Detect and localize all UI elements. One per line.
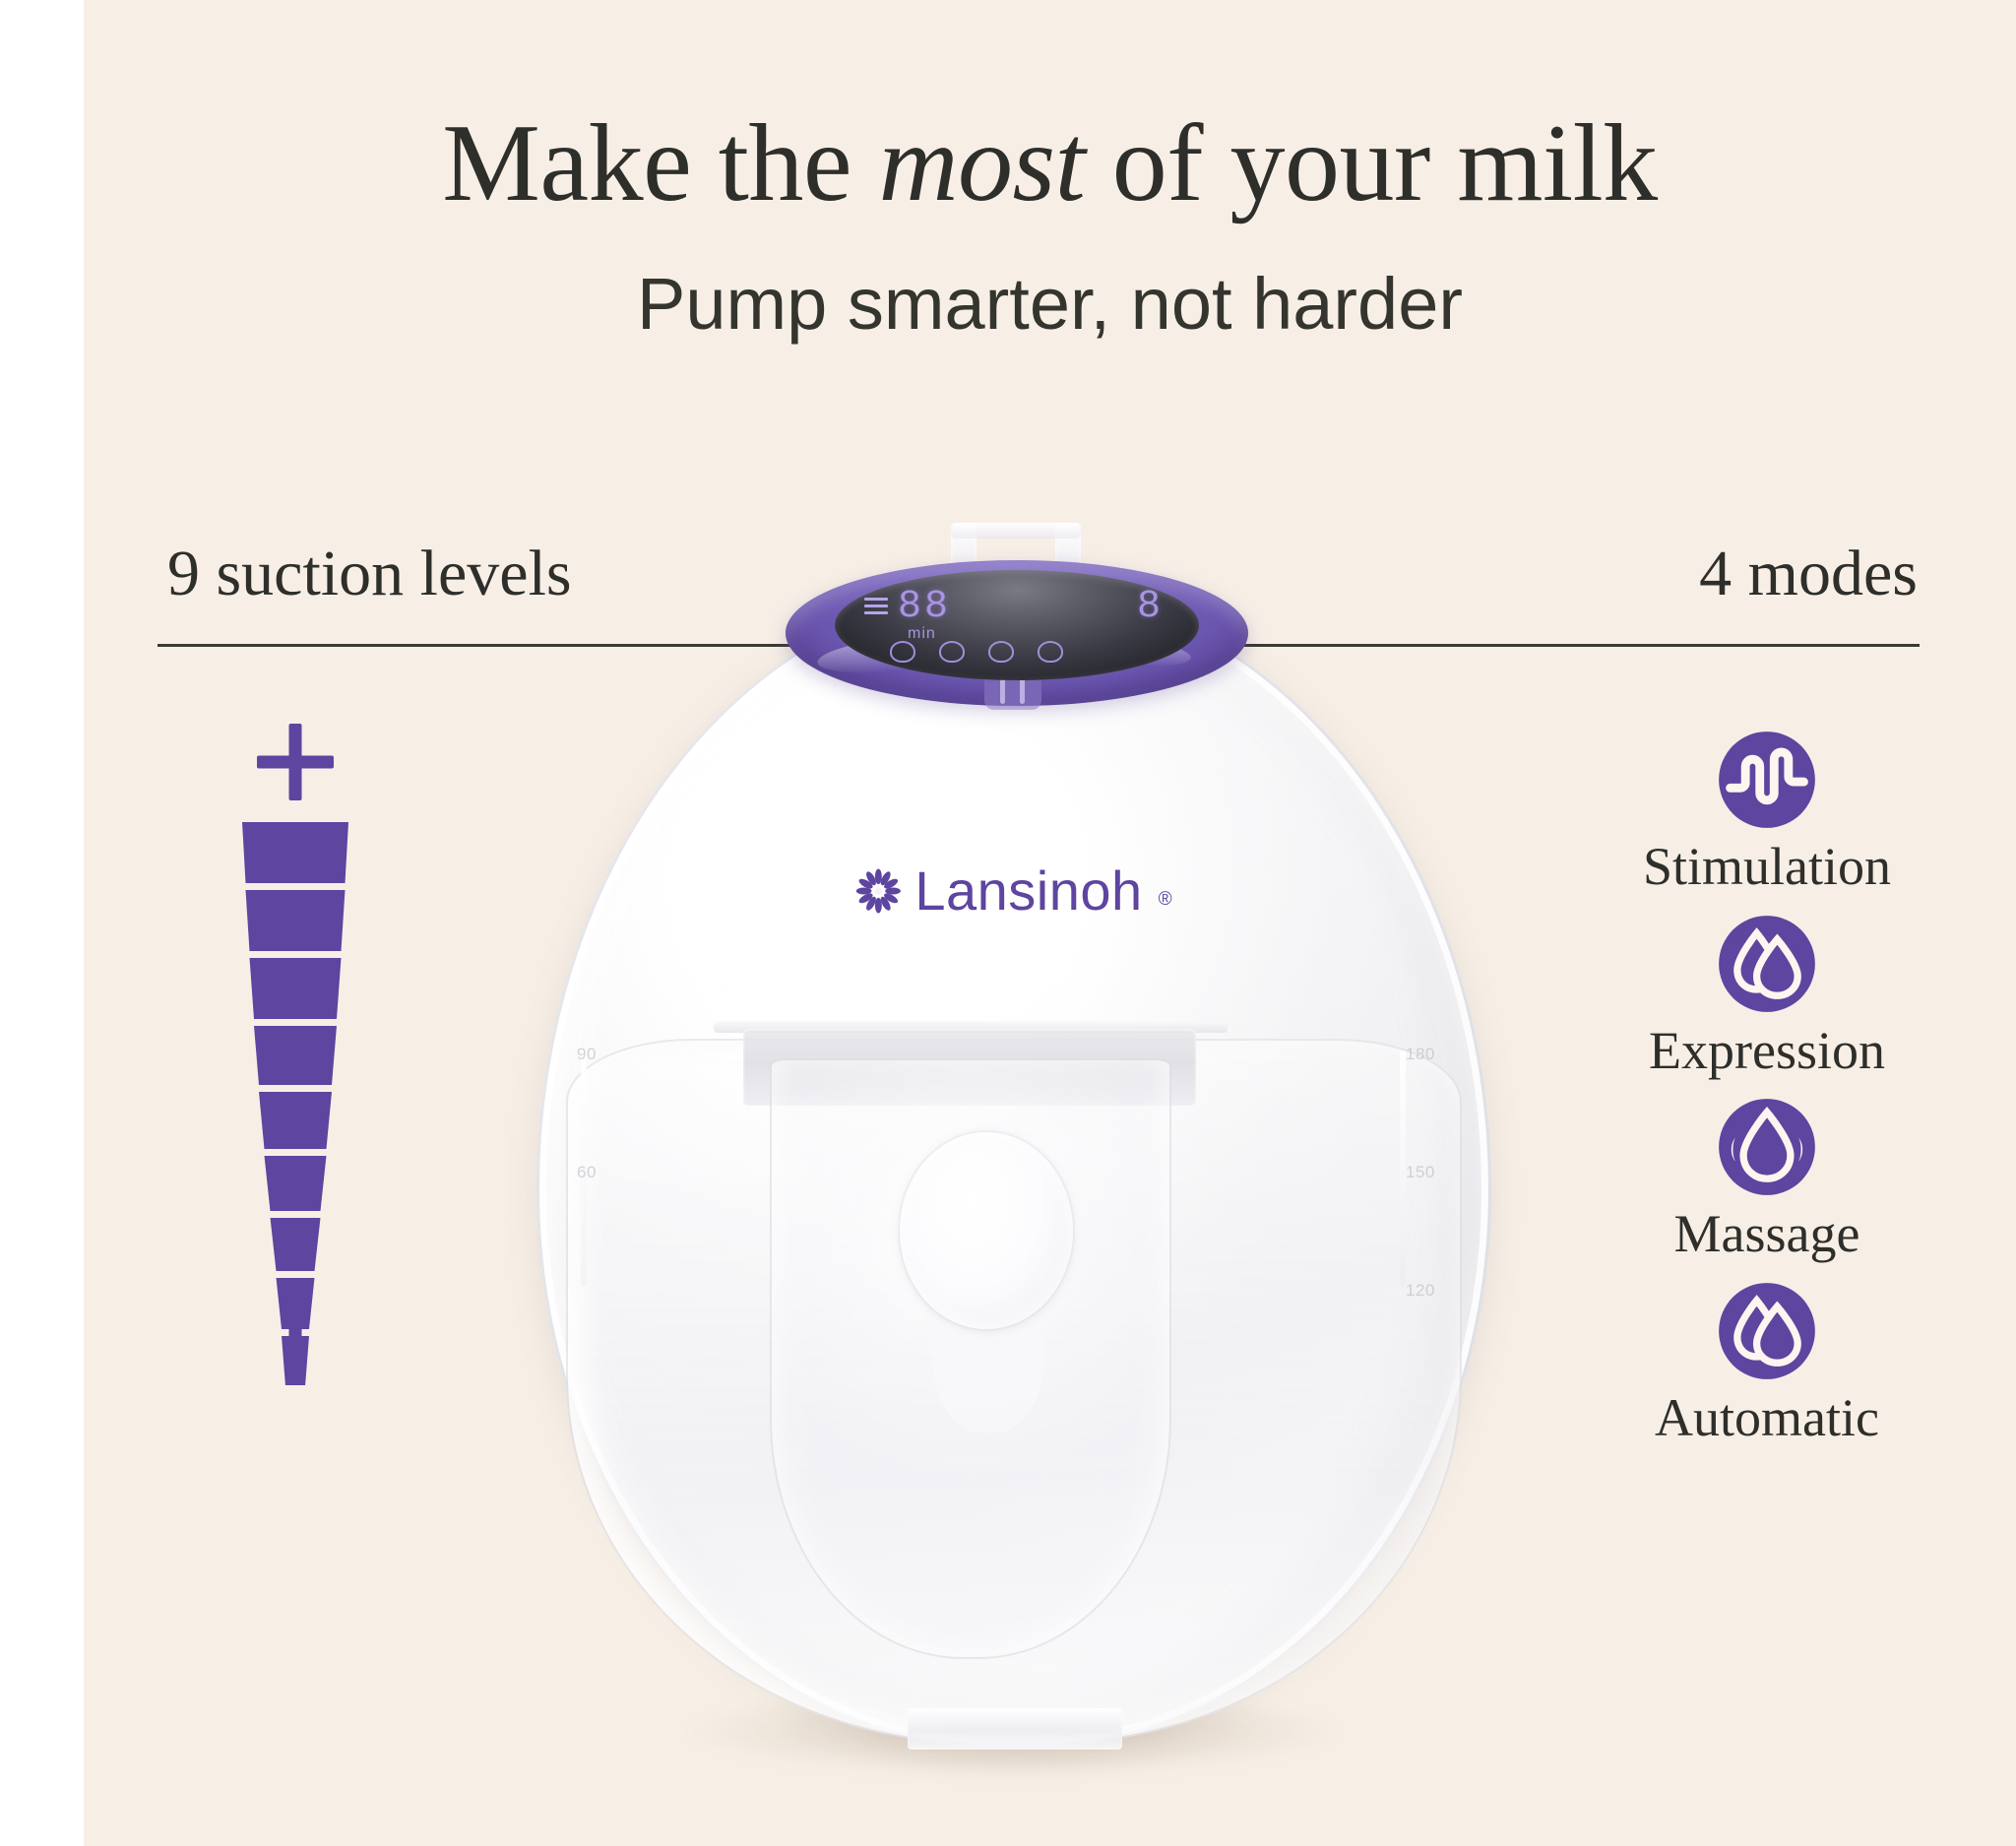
brand-logo: Lansinoh ® [855, 863, 1171, 919]
breast-shield-neck [933, 1314, 1043, 1432]
mode-item-expression[interactable]: Expression [1605, 913, 1929, 1079]
suction-segment [250, 958, 342, 1019]
registered-trademark-symbol: ® [1159, 889, 1172, 911]
suction-segment [271, 1218, 321, 1271]
display-mode-icons[interactable] [890, 641, 1063, 663]
plus-icon [257, 724, 334, 800]
brand-name: Lansinoh [914, 863, 1142, 919]
lansinoh-flower-logo [855, 868, 901, 914]
mode-label: Automatic [1605, 1390, 1929, 1446]
volume-marking: 150 [1406, 1163, 1435, 1182]
pump-control-display[interactable]: 88 min 8 [835, 570, 1199, 680]
suction-segment [259, 1092, 332, 1149]
massage-droplet-waves-icon [1716, 1096, 1818, 1198]
timer-value: 88 [898, 588, 951, 627]
suction-level-indicator [212, 724, 379, 1364]
minus-icon [289, 1308, 302, 1364]
mode-item-massage[interactable]: Massage [1605, 1096, 1929, 1262]
product-image-wearable-breast-pump: 180 150 120 90 60 [522, 566, 1506, 1757]
mode-label: Expression [1605, 1023, 1929, 1079]
volume-marking: 180 [1406, 1045, 1435, 1064]
page-subtitle: Pump smarter, not harder [84, 268, 2016, 341]
mode-label: Stimulation [1605, 839, 1929, 895]
suction-segment [246, 890, 346, 951]
infographic-root: Make the most of your milk Pump smarter,… [0, 0, 2016, 1846]
strap-bar [951, 523, 1081, 539]
mode-item-automatic[interactable]: Automatic [1605, 1280, 1929, 1446]
mode-label: Massage [1605, 1206, 1929, 1262]
headline-part1: Make the [442, 102, 878, 224]
page-title: Make the most of your milk [84, 108, 2016, 219]
expression-two-droplets-icon [1716, 913, 1818, 1015]
volume-marking: 90 [577, 1045, 597, 1064]
display-mode-icon-massage[interactable] [988, 641, 1014, 663]
display-mode-icon-automatic[interactable] [890, 641, 915, 663]
suction-level-value: 8 [1137, 588, 1164, 627]
signal-bars-icon [864, 598, 888, 619]
display-mode-icon-stimulation[interactable] [1038, 641, 1063, 663]
breast-shield-opening [900, 1132, 1073, 1329]
volume-marking: 120 [1406, 1281, 1435, 1301]
suction-section-label: 9 suction levels [167, 537, 572, 611]
pump-bottom-tab [908, 1708, 1122, 1750]
suction-segment [254, 1026, 337, 1085]
display-mode-icon-expression[interactable] [939, 641, 965, 663]
volume-marking: 60 [577, 1163, 597, 1182]
stimulation-waveform-icon [1716, 729, 1818, 831]
modes-section-label: 4 modes [1699, 537, 1918, 611]
modes-list: Stimulation Expression Massage [1605, 729, 1929, 1464]
mode-item-stimulation[interactable]: Stimulation [1605, 729, 1929, 895]
headline-part2: of your milk [1085, 102, 1657, 224]
headline-emphasis: most [879, 102, 1086, 224]
automatic-two-droplets-icon [1716, 1280, 1818, 1382]
suction-segment [242, 822, 348, 883]
suction-segment [265, 1156, 327, 1211]
